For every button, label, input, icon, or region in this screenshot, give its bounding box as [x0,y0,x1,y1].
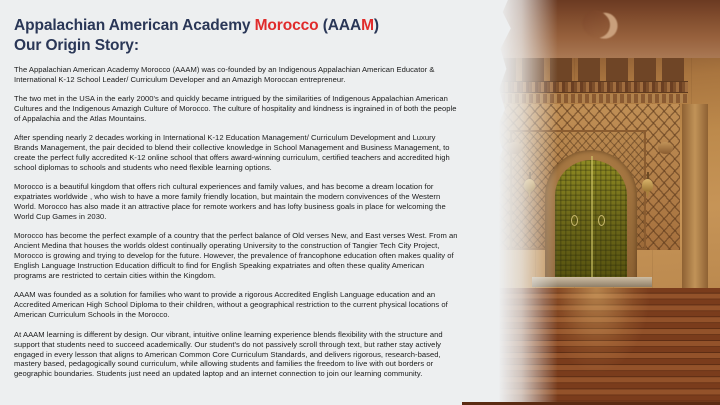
title-line-1: Appalachian American Academy Morocco (AA… [14,16,458,36]
moroccan-gateway-photo [462,0,720,405]
hanging-lantern-right [642,172,653,198]
title-suffix: ) [374,17,379,34]
paragraph-2: The two met in the USA in the early 2000… [14,94,458,124]
title-line-2: Our Origin Story: [14,36,458,56]
paragraph-6: AAAM was founded as a solution for famil… [14,290,458,320]
corbel-right [658,142,673,154]
title-prefix: Appalachian American Academy [14,17,255,34]
door-center-seam [591,156,593,283]
pilaster-right [682,104,708,290]
slide-canvas: Appalachian American Academy Morocco (AA… [0,0,720,405]
title-accent-morocco: Morocco [255,17,319,34]
paragraph-7: At AAAM learning is different by design.… [14,330,458,380]
paragraph-1: The Appalachian American Academy Morocco… [14,65,458,85]
title-mid: (AAA [319,17,362,34]
door-knocker-left-icon [571,215,578,226]
paragraph-5: Morocco has become the perfect example o… [14,231,458,281]
paragraph-3: After spending nearly 2 decades working … [14,133,458,173]
paragraph-4: Morocco is a beautiful kingdom that offe… [14,182,458,222]
page-title: Appalachian American Academy Morocco (AA… [14,16,458,56]
text-column: Appalachian American Academy Morocco (AA… [0,0,470,405]
title-accent-m: M [361,17,374,34]
horseshoe-arch [545,150,637,285]
